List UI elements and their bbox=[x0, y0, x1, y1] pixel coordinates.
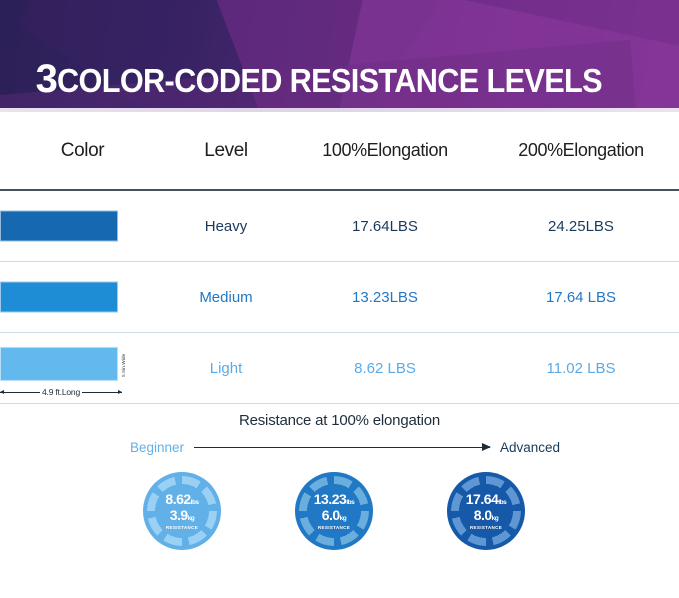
dial-kg-unit: kg bbox=[188, 515, 195, 522]
scale-title: Resistance at 100% elongation bbox=[0, 412, 679, 429]
dial-lbs-row: 8.62lbs bbox=[165, 492, 198, 507]
page-title-number: 3 bbox=[36, 57, 58, 101]
color-swatch-cell-light: 5.9in.Wide 4.9 ft.Long bbox=[0, 333, 165, 403]
column-header-elongation-100: 100%Elongation bbox=[287, 140, 483, 161]
table-row: Medium 13.23LBS 17.64 LBS bbox=[0, 262, 679, 332]
dimension-arrow-left-icon bbox=[0, 392, 40, 393]
dial-kg-value: 3.9 bbox=[170, 507, 188, 523]
dial-caption: RESISTANCE bbox=[470, 526, 502, 531]
table-row: Heavy 17.64LBS 24.25LBS bbox=[0, 191, 679, 261]
level-label-heavy: Heavy bbox=[165, 218, 287, 235]
column-header-elongation-200: 200%Elongation bbox=[483, 140, 679, 161]
page-title-text: COLOR-CODED RESISTANCE LEVELS bbox=[57, 62, 602, 100]
band-length-label: 4.9 ft.Long bbox=[42, 387, 80, 397]
dial-lbs-unit: lbs bbox=[191, 499, 199, 506]
axis-label-advanced: Advanced bbox=[500, 440, 560, 455]
elongation-100-medium: 13.23LBS bbox=[287, 289, 483, 306]
dial-lbs-value: 13.23 bbox=[314, 491, 347, 507]
resistance-band-heavy bbox=[0, 211, 118, 242]
page-banner: 3COLOR-CODED RESISTANCE LEVELS bbox=[0, 0, 679, 112]
dial-content: 8.62lbs 3.9kg RESISTANCE bbox=[165, 492, 198, 531]
resistance-band-light bbox=[0, 347, 118, 381]
resistance-dial-heavy: 17.64lbs 8.0kg RESISTANCE bbox=[447, 472, 525, 550]
page-title: 3COLOR-CODED RESISTANCE LEVELS bbox=[0, 57, 679, 102]
dial-caption: RESISTANCE bbox=[166, 526, 198, 531]
color-swatch-cell-medium bbox=[0, 262, 165, 332]
elongation-100-light: 8.62 LBS bbox=[287, 360, 483, 377]
elongation-200-light: 11.02 LBS bbox=[483, 360, 679, 377]
elongation-100-heavy: 17.64LBS bbox=[287, 218, 483, 235]
resistance-dial-medium: 13.23lbs 6.0kg RESISTANCE bbox=[295, 472, 373, 550]
band-width-label: 5.9in.Wide bbox=[121, 354, 126, 377]
dial-kg-row: 3.9kg bbox=[170, 508, 195, 523]
axis-label-beginner: Beginner bbox=[130, 440, 184, 455]
dial-kg-unit: kg bbox=[340, 515, 347, 522]
column-header-color: Color bbox=[0, 112, 165, 189]
level-label-light: Light bbox=[165, 360, 287, 377]
axis-arrow-icon bbox=[194, 447, 490, 448]
dial-lbs-unit: lbs bbox=[498, 499, 506, 506]
elongation-200-medium: 17.64 LBS bbox=[483, 289, 679, 306]
table-row: 5.9in.Wide 4.9 ft.Long Light 8.62 LBS 11… bbox=[0, 333, 679, 403]
resistance-dial-light: 8.62lbs 3.9kg RESISTANCE bbox=[143, 472, 221, 550]
dial-caption: RESISTANCE bbox=[318, 526, 350, 531]
dial-lbs-row: 13.23lbs bbox=[314, 492, 354, 507]
dial-kg-row: 8.0kg bbox=[474, 508, 499, 523]
elongation-200-heavy: 24.25LBS bbox=[483, 218, 679, 235]
table-header-row: Color Level 100%Elongation 200%Elongatio… bbox=[0, 112, 679, 189]
dial-content: 17.64lbs 8.0kg RESISTANCE bbox=[466, 492, 506, 531]
dial-kg-unit: kg bbox=[492, 515, 499, 522]
dial-kg-value: 8.0 bbox=[474, 507, 492, 523]
dimension-arrow-right-icon bbox=[82, 392, 122, 393]
resistance-band-medium bbox=[0, 282, 118, 313]
resistance-table: Color Level 100%Elongation 200%Elongatio… bbox=[0, 112, 679, 404]
banner-bottom-strip bbox=[0, 108, 679, 112]
column-header-level: Level bbox=[165, 140, 287, 162]
resistance-scale-section: Resistance at 100% elongation Beginner A… bbox=[0, 404, 679, 584]
band-length-dimension: 4.9 ft.Long bbox=[0, 387, 122, 397]
dial-kg-row: 6.0kg bbox=[322, 508, 347, 523]
dial-lbs-value: 17.64 bbox=[466, 491, 499, 507]
dial-content: 13.23lbs 6.0kg RESISTANCE bbox=[314, 492, 354, 531]
dial-lbs-unit: lbs bbox=[346, 499, 354, 506]
color-swatch-cell-heavy bbox=[0, 191, 165, 261]
dial-kg-value: 6.0 bbox=[322, 507, 340, 523]
dial-lbs-value: 8.62 bbox=[165, 491, 190, 507]
dial-lbs-row: 17.64lbs bbox=[466, 492, 506, 507]
resistance-dials: 8.62lbs 3.9kg RESISTANCE 13.23lbs 6.0kg … bbox=[0, 472, 679, 567]
progression-axis: Beginner Advanced bbox=[130, 440, 560, 455]
level-label-medium: Medium bbox=[165, 289, 287, 306]
